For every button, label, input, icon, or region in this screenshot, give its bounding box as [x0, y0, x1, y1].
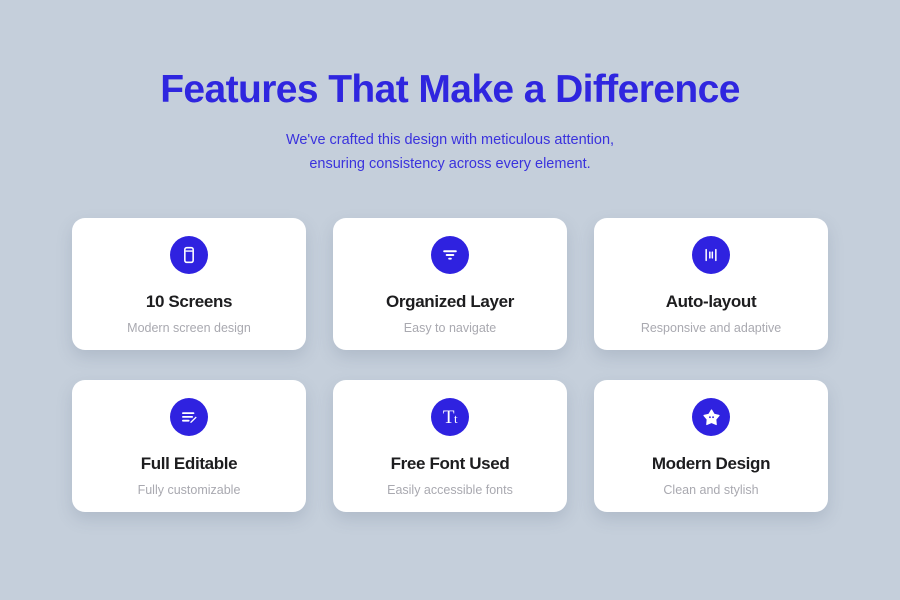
feature-card[interactable]: Auto-layout Responsive and adaptive [594, 218, 828, 350]
feature-card[interactable]: Organized Layer Easy to navigate [333, 218, 567, 350]
edit-pencil-lines-icon [179, 407, 200, 428]
feature-card-subtitle: Fully customizable [138, 474, 241, 498]
section-subtitle: We've crafted this design with meticulou… [190, 129, 710, 177]
subtitle-line-1: We've crafted this design with meticulou… [190, 129, 710, 153]
feature-card[interactable]: Modern Design Clean and stylish [594, 380, 828, 512]
feature-card-subtitle: Clean and stylish [663, 474, 758, 498]
icon-badge [692, 398, 730, 436]
typography-tt-icon: Tt [443, 408, 457, 427]
icon-badge [170, 236, 208, 274]
feature-card-title: Organized Layer [386, 274, 514, 312]
icon-badge [431, 236, 469, 274]
feature-card-title: Modern Design [652, 436, 770, 474]
feature-card[interactable]: 10 Screens Modern screen design [72, 218, 306, 350]
star-smile-icon [701, 407, 722, 428]
icon-badge [692, 236, 730, 274]
feature-card[interactable]: Tt Free Font Used Easily accessible font… [333, 380, 567, 512]
mobile-phone-icon [179, 245, 199, 265]
feature-card-title: 10 Screens [146, 274, 232, 312]
icon-badge: Tt [431, 398, 469, 436]
auto-layout-bars-icon [701, 245, 721, 265]
filter-funnel-icon [440, 245, 460, 265]
typography-lowercase-t: t [454, 411, 457, 426]
icon-badge [170, 398, 208, 436]
feature-card-subtitle: Easy to navigate [404, 312, 496, 336]
subtitle-line-2: ensuring consistency across every elemen… [190, 153, 710, 177]
features-section: Features That Make a Difference We've cr… [0, 0, 900, 600]
typography-uppercase-t: T [443, 407, 454, 428]
feature-card-title: Free Font Used [391, 436, 510, 474]
feature-card-grid: 10 Screens Modern screen design Organize… [72, 218, 828, 512]
feature-card-title: Full Editable [141, 436, 238, 474]
feature-card-subtitle: Responsive and adaptive [641, 312, 781, 336]
page-title: Features That Make a Difference [0, 68, 900, 113]
section-header: Features That Make a Difference We've cr… [0, 0, 900, 177]
feature-card-subtitle: Easily accessible fonts [387, 474, 513, 498]
feature-card[interactable]: Full Editable Fully customizable [72, 380, 306, 512]
feature-card-title: Auto-layout [666, 274, 757, 312]
feature-card-subtitle: Modern screen design [127, 312, 251, 336]
